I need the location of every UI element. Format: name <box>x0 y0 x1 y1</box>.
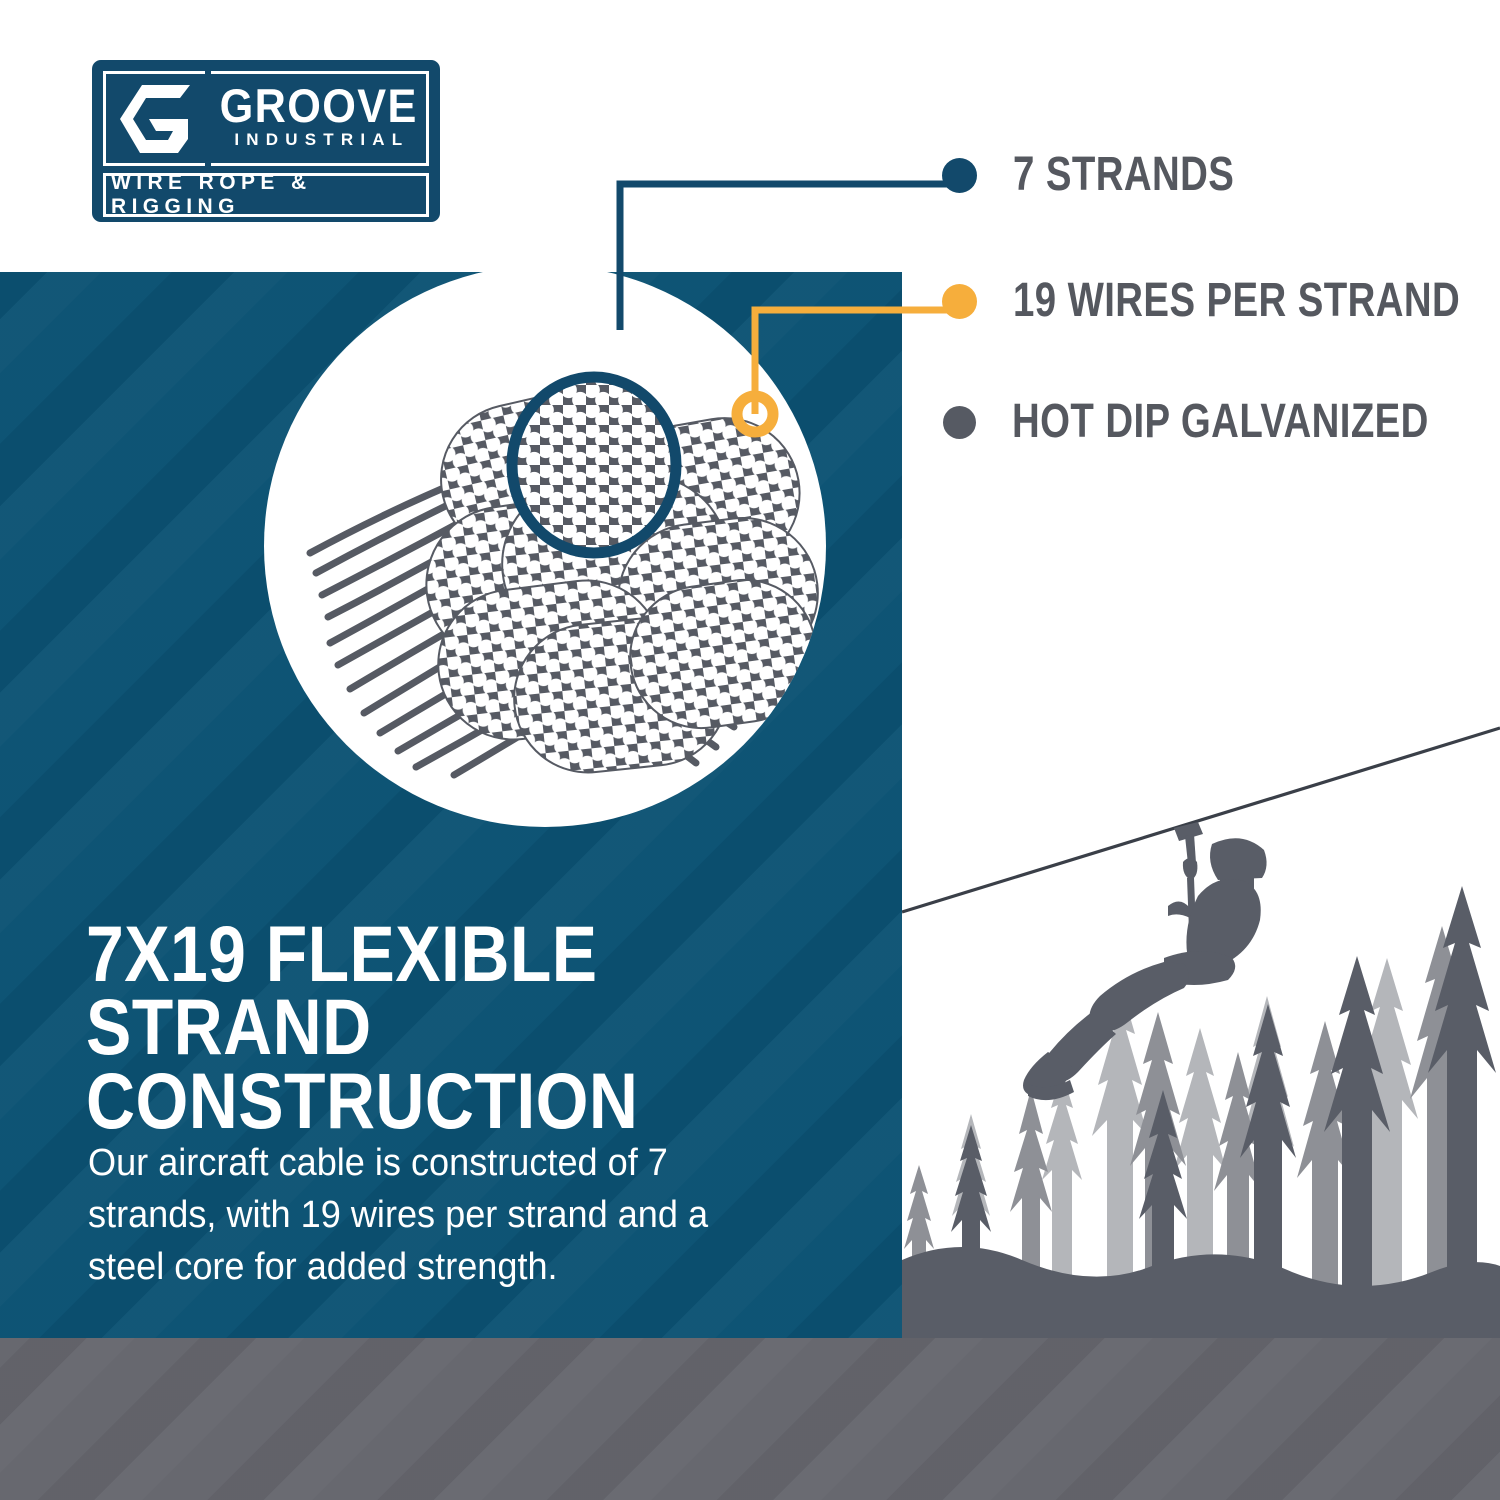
body-copy: Our aircraft cable is constructed of 7 s… <box>88 1137 744 1293</box>
callout-7-strands: 7 STRANDS <box>942 151 1290 199</box>
infographic-canvas: 7 STRANDS 19 WIRES PER STRAND HOT DIP GA… <box>0 0 1500 1500</box>
zipline-photo <box>902 700 1500 1338</box>
callout-dot-orange <box>942 284 977 319</box>
callout-label-galvanized: HOT DIP GALVANIZED <box>1012 398 1429 446</box>
callout-hot-dip-galvanized: HOT DIP GALVANIZED <box>943 398 1500 446</box>
callout-dot-gray <box>943 406 976 439</box>
callout-label-strands: 7 STRANDS <box>1013 151 1234 199</box>
logo-subtitle: INDUSTRIAL <box>227 130 409 150</box>
groove-g-mark-icon <box>103 71 205 166</box>
callout-19-wires: 19 WIRES PER STRAND <box>942 277 1500 325</box>
callout-dot-navy <box>942 158 977 193</box>
logo-tagline-bar: WIRE ROPE & RIGGING <box>103 173 429 217</box>
connector-wires <box>755 310 948 414</box>
logo-wordmark: GROOVE <box>219 84 417 127</box>
callout-label-wires: 19 WIRES PER STRAND <box>1013 277 1460 325</box>
page-title: 7X19 FLEXIBLE STRAND CONSTRUCTION <box>86 917 774 1137</box>
headline-line-1: 7X19 FLEXIBLE <box>86 917 774 990</box>
brand-logo[interactable]: GROOVE INDUSTRIAL WIRE ROPE & RIGGING <box>92 60 440 222</box>
footer-band <box>0 1338 1500 1500</box>
headline-line-2: STRAND CONSTRUCTION <box>86 990 774 1137</box>
logo-tagline: WIRE ROPE & RIGGING <box>106 171 426 219</box>
